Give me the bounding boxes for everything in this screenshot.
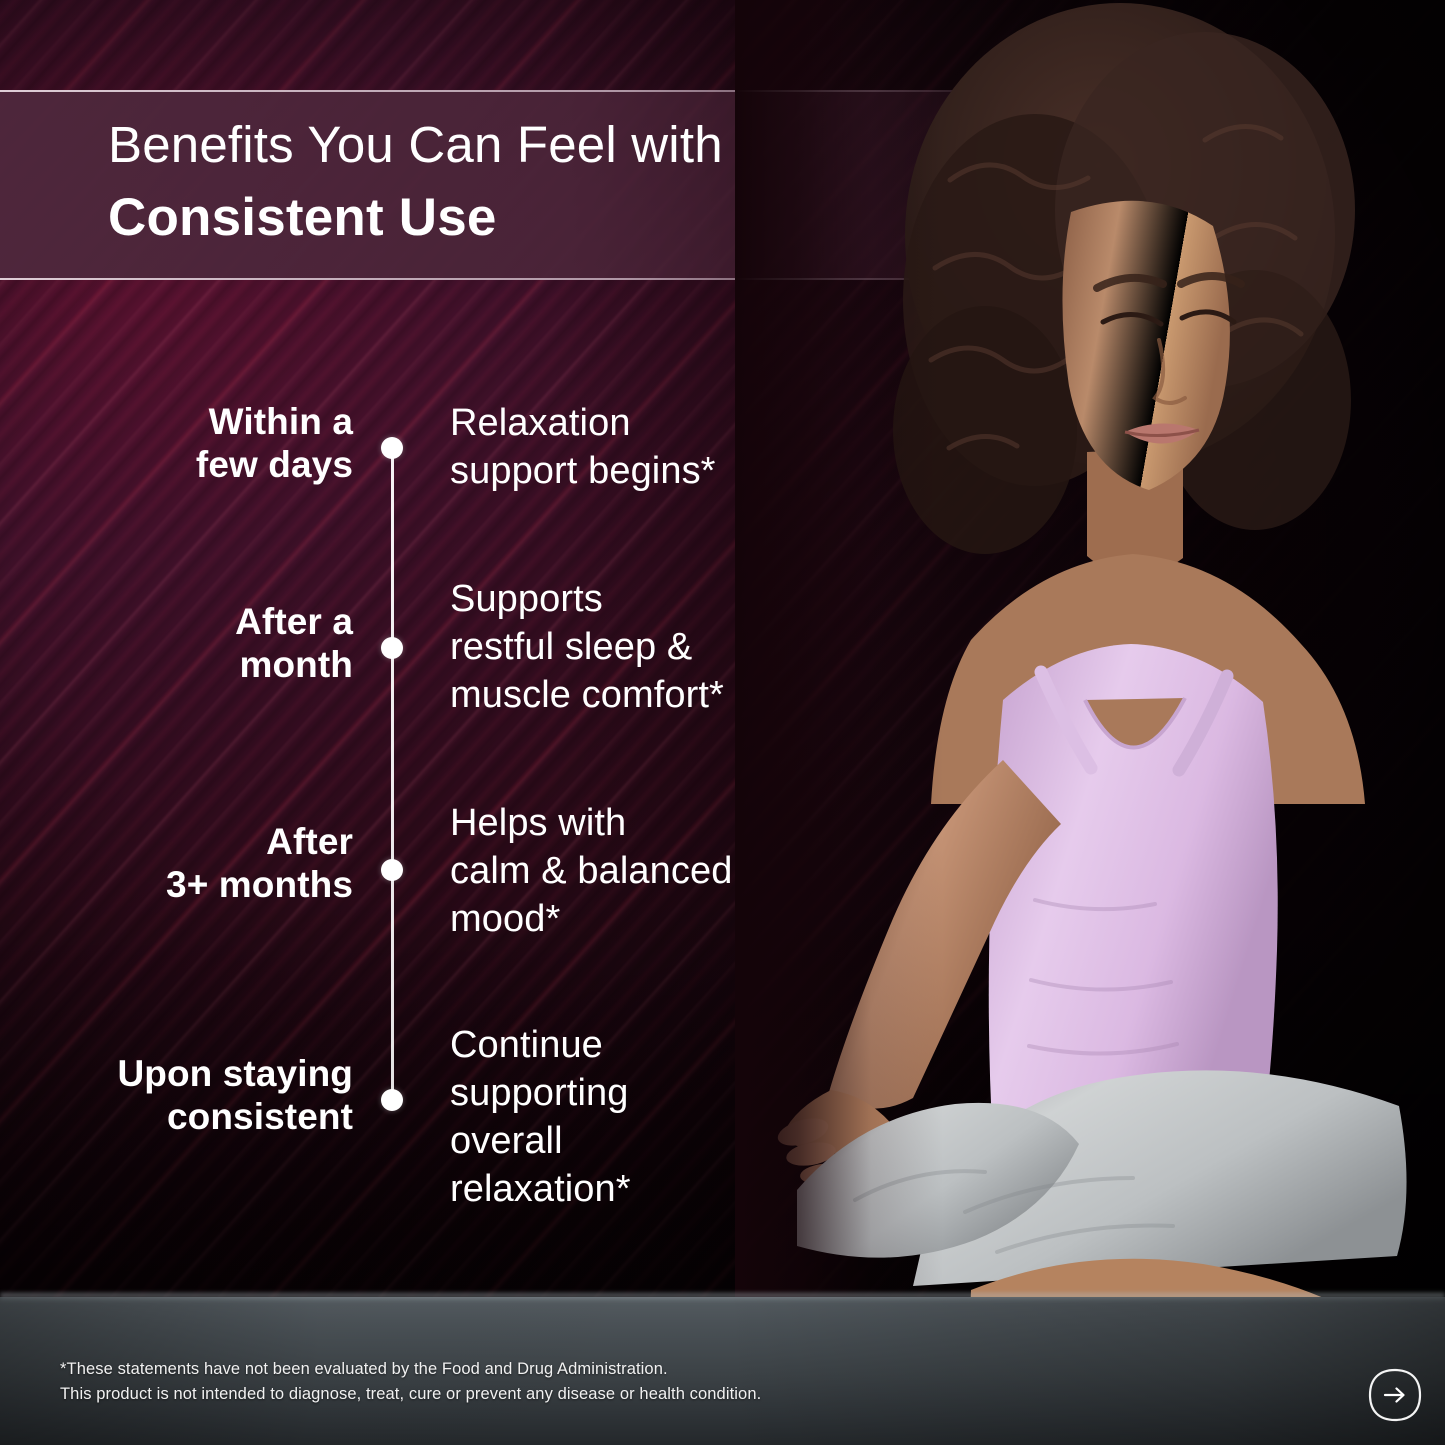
infographic-canvas: Benefits You Can Feel with Consistent Us… [0,0,1445,1445]
disclaimer-line-2: This product is not intended to diagnose… [60,1382,761,1407]
title-line-1: Benefits You Can Feel with [108,112,938,178]
timeline-dot-2 [381,637,403,659]
timeline-benefit-2: Supports restful sleep & muscle comfort* [450,576,870,720]
timeline-dot-3 [381,859,403,881]
timeline-when-1: Within a few days [0,400,353,487]
timeline-benefit-4: Continue supporting overall relaxation* [450,1022,870,1214]
fda-disclaimer: *These statements have not been evaluate… [60,1357,761,1407]
timeline-when-3: After 3+ months [0,820,353,907]
title-line-2: Consistent Use [108,184,938,253]
timeline-dot-1 [381,437,403,459]
timeline-dot-4 [381,1089,403,1111]
timeline-when-2: After a month [0,600,353,687]
arrow-right-icon [1367,1367,1423,1423]
timeline-when-4: Upon staying consistent [0,1052,353,1139]
page-title: Benefits You Can Feel with Consistent Us… [108,112,938,253]
timeline-benefit-1: Relaxation support begins* [450,400,870,496]
timeline-benefit-3: Helps with calm & balanced mood* [450,800,870,944]
timeline-connector-line [391,448,394,1100]
next-slide-button[interactable] [1367,1367,1423,1423]
disclaimer-line-1: *These statements have not been evaluate… [60,1357,761,1382]
